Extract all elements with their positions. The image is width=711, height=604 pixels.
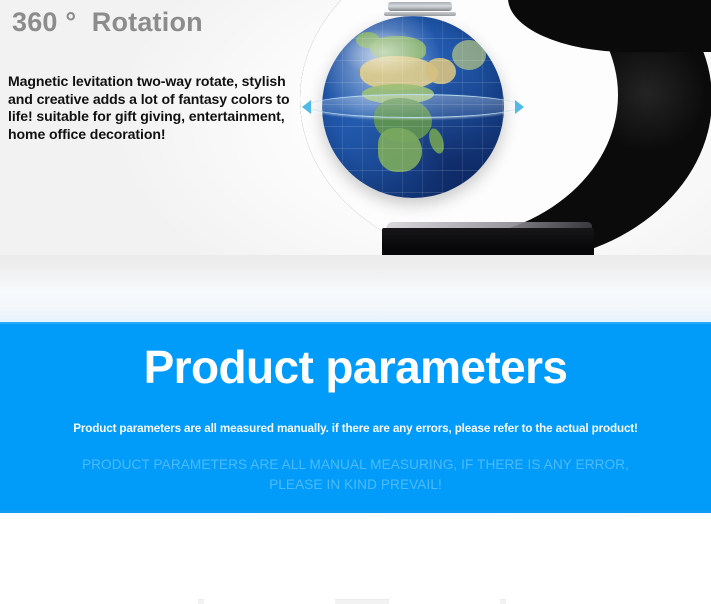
hero-section: 360 ° Rotation Magnetic levitation two-w… bbox=[0, 0, 711, 255]
next-content-sliver bbox=[335, 599, 389, 604]
hero-title: 360 ° Rotation bbox=[12, 7, 203, 38]
tail-fade bbox=[0, 513, 711, 519]
banner-top-edge bbox=[0, 322, 711, 324]
rotation-ring-icon bbox=[308, 94, 520, 118]
section-divider-white bbox=[0, 291, 711, 322]
product-parameters-subtitle-caps: PRODUCT PARAMETERS ARE ALL MANUAL MEASUR… bbox=[0, 455, 711, 495]
caps-line-2: PLEASE IN KIND PREVAIL! bbox=[0, 475, 711, 495]
next-content-sliver bbox=[198, 599, 204, 604]
caps-line-1: PRODUCT PARAMETERS ARE ALL MANUAL MEASUR… bbox=[0, 455, 711, 475]
next-content-sliver bbox=[500, 599, 506, 604]
magnet-emitter-icon bbox=[388, 2, 452, 11]
globe-icon bbox=[322, 16, 504, 198]
product-parameters-subtitle: Product parameters are all measured manu… bbox=[0, 422, 711, 435]
section-divider-grey bbox=[0, 255, 711, 291]
product-parameters-title: Product parameters bbox=[0, 340, 711, 394]
product-detail-page: 360 ° Rotation Magnetic levitation two-w… bbox=[0, 0, 711, 604]
arrow-right-icon bbox=[515, 100, 524, 114]
product-parameters-banner: Product parameters Product parameters ar… bbox=[0, 322, 711, 513]
base-block-icon bbox=[382, 228, 594, 255]
hero-description: Magnetic levitation two-way rotate, styl… bbox=[8, 73, 308, 143]
next-section-cropped bbox=[0, 513, 711, 604]
